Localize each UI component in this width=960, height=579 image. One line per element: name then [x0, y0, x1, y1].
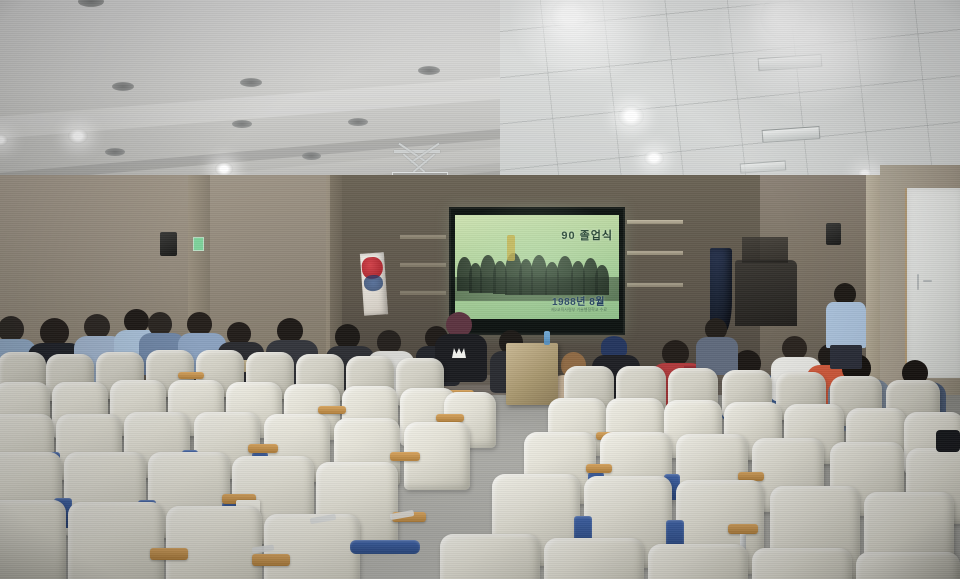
projected-slide: 90 졸업식 1988년 8월 제2교육사령부 기술행정학교 수료 — [455, 215, 619, 319]
seat[interactable] — [856, 552, 960, 579]
wall-speaker — [826, 223, 841, 245]
wall-slat — [627, 251, 683, 255]
downlight-off-icon — [418, 66, 440, 75]
exit-sign — [193, 237, 204, 251]
seat[interactable] — [440, 534, 540, 579]
seat-armrest — [150, 548, 188, 560]
back-cabinet-top — [742, 237, 788, 263]
seat[interactable] — [166, 506, 262, 579]
seat-armrest — [248, 444, 278, 453]
seat-armrest — [318, 406, 346, 414]
seat[interactable] — [544, 538, 644, 579]
seat-armrest — [178, 372, 204, 379]
baseball-cap — [601, 336, 627, 356]
wall-slat — [627, 283, 683, 287]
seat[interactable] — [648, 544, 748, 579]
wall-speaker — [160, 232, 177, 256]
back-cabinet — [735, 260, 797, 326]
floor-bag — [936, 430, 960, 452]
slide-date: 1988년 8월 — [552, 293, 605, 308]
seat-armrest — [390, 452, 420, 461]
crown-graphic — [452, 348, 466, 358]
podium — [506, 343, 558, 405]
seat[interactable] — [68, 502, 164, 579]
seat[interactable] — [752, 548, 852, 579]
seat-armrest — [252, 554, 290, 566]
downlight-off-icon — [348, 118, 368, 126]
auditorium-photo: 90 졸업식 1988년 8월 제2교육사령부 기술행정학교 수료 — [0, 0, 960, 579]
downlight-off-icon — [302, 152, 321, 160]
downlight-on-icon — [215, 162, 233, 176]
whiteboard — [905, 188, 960, 378]
seat[interactable] — [0, 500, 66, 579]
downlight-on-icon — [644, 150, 664, 166]
seat-cushion — [350, 540, 420, 554]
downlight-on-icon — [618, 105, 644, 127]
wall-slat — [400, 235, 446, 239]
seat-armrest — [586, 464, 612, 473]
slide-title: 90 졸업식 — [561, 227, 613, 243]
water-bottle — [544, 331, 550, 345]
wall-slat — [627, 220, 683, 224]
slide-subcaption: 제2교육사령부 기술행정학교 수료 — [551, 307, 607, 313]
seat-armrest — [728, 524, 758, 534]
standing-person-trousers — [830, 345, 862, 369]
downlight-on-icon — [68, 128, 88, 144]
downlight-off-icon — [78, 0, 104, 7]
seat-armrest — [436, 414, 464, 422]
korean-national-flag — [360, 252, 388, 316]
projection-screen: 90 졸업식 1988년 8월 제2교육사령부 기술행정학교 수료 — [449, 207, 625, 335]
downlight-off-icon — [112, 82, 134, 91]
wall-slat — [400, 263, 446, 267]
downlight-off-icon — [232, 120, 252, 128]
wall-slat — [400, 291, 446, 295]
downlight-off-icon — [105, 148, 125, 156]
downlight-off-icon — [240, 78, 262, 87]
